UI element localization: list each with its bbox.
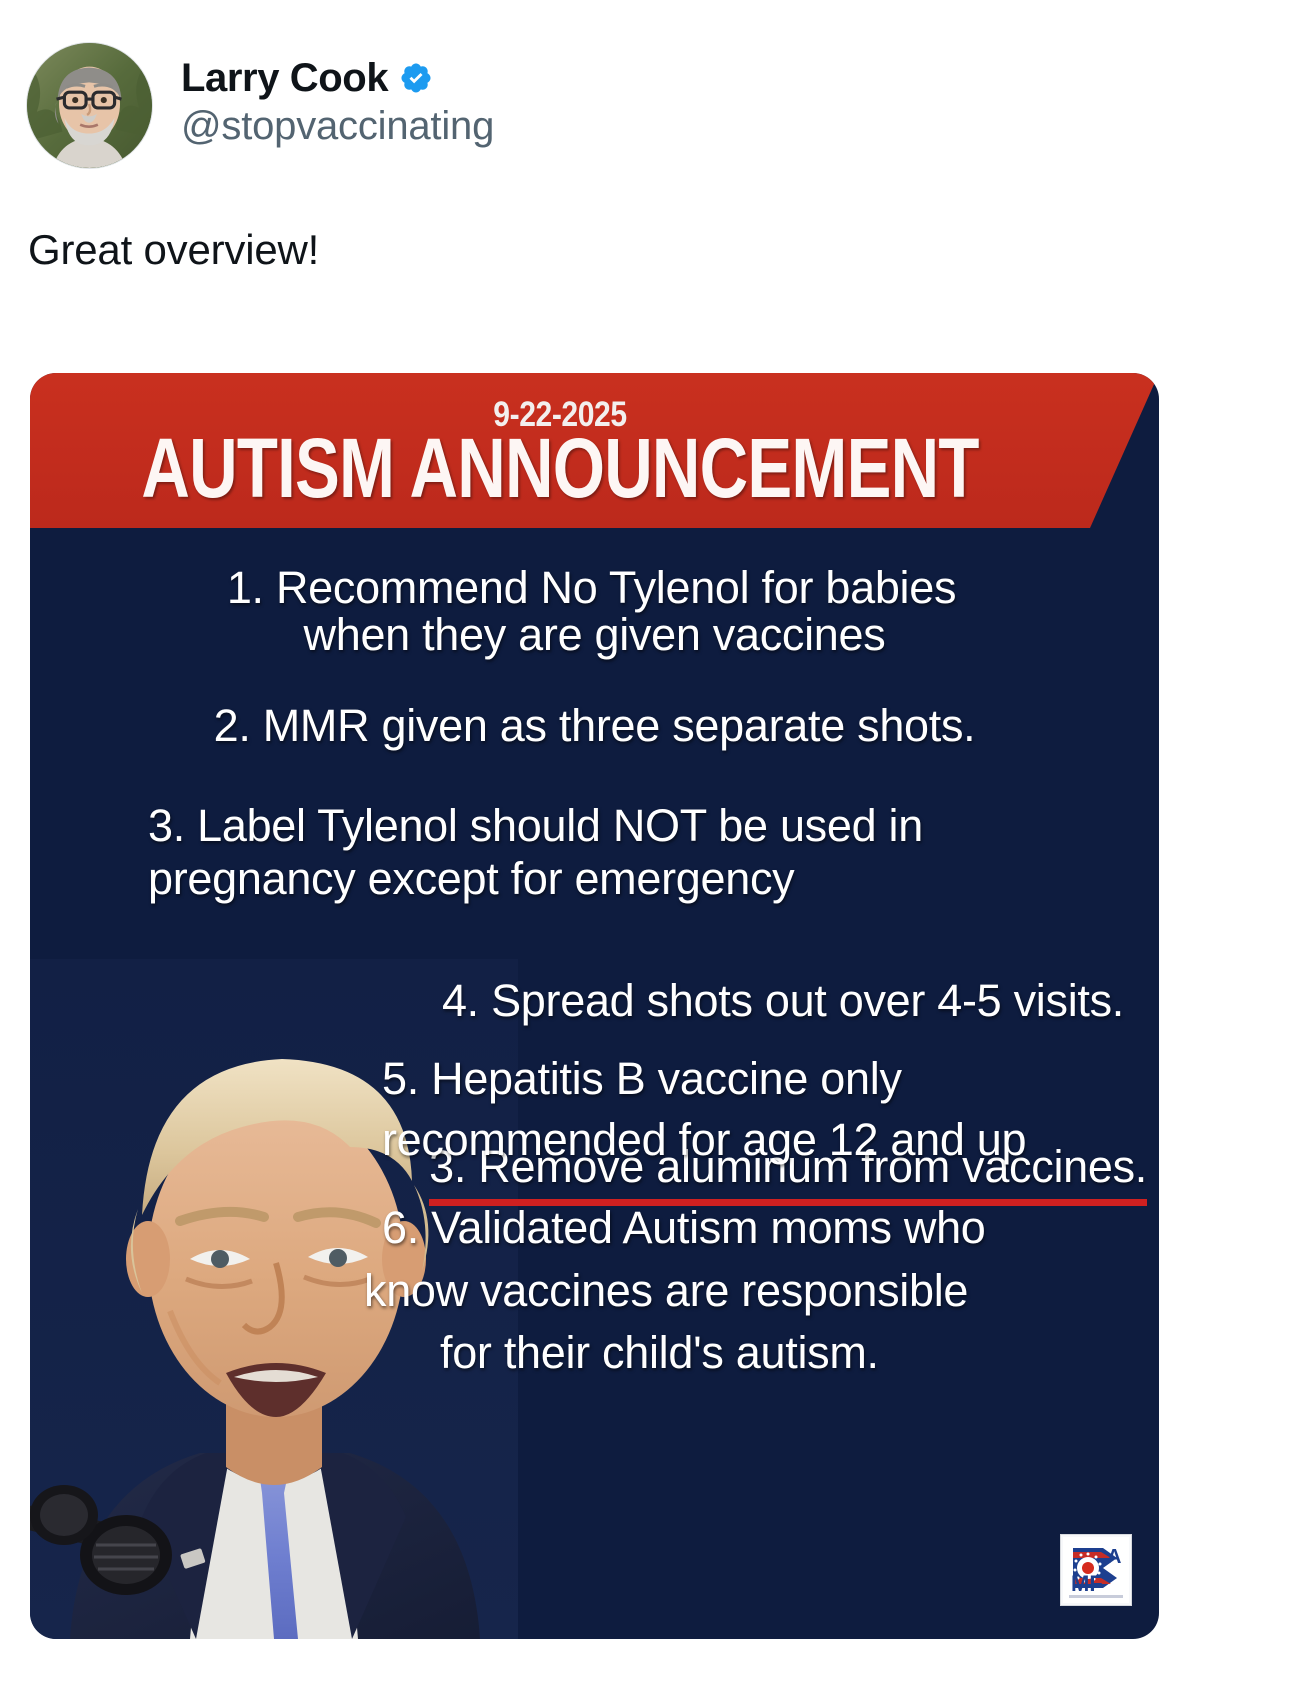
- list-item-3-line-2: pregnancy except for emergency: [148, 854, 1159, 904]
- avatar-photo: [27, 43, 152, 168]
- list-item-1-line-1: 1. Recommend No Tylenol for babies: [30, 563, 1159, 613]
- list-item-5: 5. Hepatitis B vaccine only recommended …: [30, 1054, 1159, 1165]
- announcement-title: AUTISM ANNOUNCEMENT: [136, 429, 984, 508]
- handle[interactable]: @stopvaccinating: [181, 103, 494, 150]
- list-item-5-line-1: 5. Hepatitis B vaccine only: [382, 1054, 1159, 1104]
- verified-badge-icon: [399, 61, 433, 95]
- list-item-2-line-1: 2. MMR given as three separate shots.: [30, 701, 1159, 751]
- list-item-3: 3. Label Tylenol should NOT be used in p…: [30, 801, 1159, 904]
- list-item-5-line-2: recommended for age 12 and up: [382, 1115, 1159, 1165]
- list-item-6-line-2: know vaccines are responsible: [364, 1266, 1159, 1316]
- display-name[interactable]: Larry Cook: [181, 56, 388, 101]
- list-item-4: 4. Spread shots out over 4-5 visits.: [30, 976, 1159, 1026]
- oamf-logo: A MF: [1060, 1534, 1132, 1606]
- oamf-logo-bottom-text: MF: [1071, 1571, 1103, 1596]
- attached-image-card[interactable]: 9-22-2025 AUTISM ANNOUNCEMENT 1. Recomme…: [30, 373, 1159, 1639]
- identity-block: Larry Cook @stopvaccinating: [181, 42, 494, 150]
- oamf-logo-top-text: A: [1107, 1546, 1121, 1568]
- tweet-header: Larry Cook @stopvaccinating: [0, 0, 1290, 169]
- list-item-6-line-1: 6. Validated Autism moms who: [382, 1203, 1159, 1253]
- list-item-3-line-1: 3. Label Tylenol should NOT be used in: [148, 801, 1159, 851]
- list-item-1: 1. Recommend No Tylenol for babies when …: [30, 541, 1159, 661]
- list-item-1-line-2: when they are given vaccines: [30, 610, 1159, 660]
- tweet-body-text: Great overview!: [0, 169, 1290, 277]
- list-item-4-line-1: 4. Spread shots out over 4-5 visits.: [30, 976, 1124, 1026]
- list-item-2: 2. MMR given as three separate shots.: [30, 701, 1159, 751]
- oamf-logo-icon: A MF: [1063, 1537, 1129, 1603]
- list-item-6: 6. Validated Autism moms who know vaccin…: [30, 1203, 1159, 1378]
- display-name-row: Larry Cook: [181, 56, 494, 101]
- avatar[interactable]: [26, 42, 153, 169]
- list-item-6-line-3: for their child's autism.: [440, 1328, 1159, 1378]
- announcement-list: 1. Recommend No Tylenol for babies when …: [30, 541, 1159, 1378]
- tweet-post: Larry Cook @stopvaccinating Great overvi…: [0, 0, 1290, 1691]
